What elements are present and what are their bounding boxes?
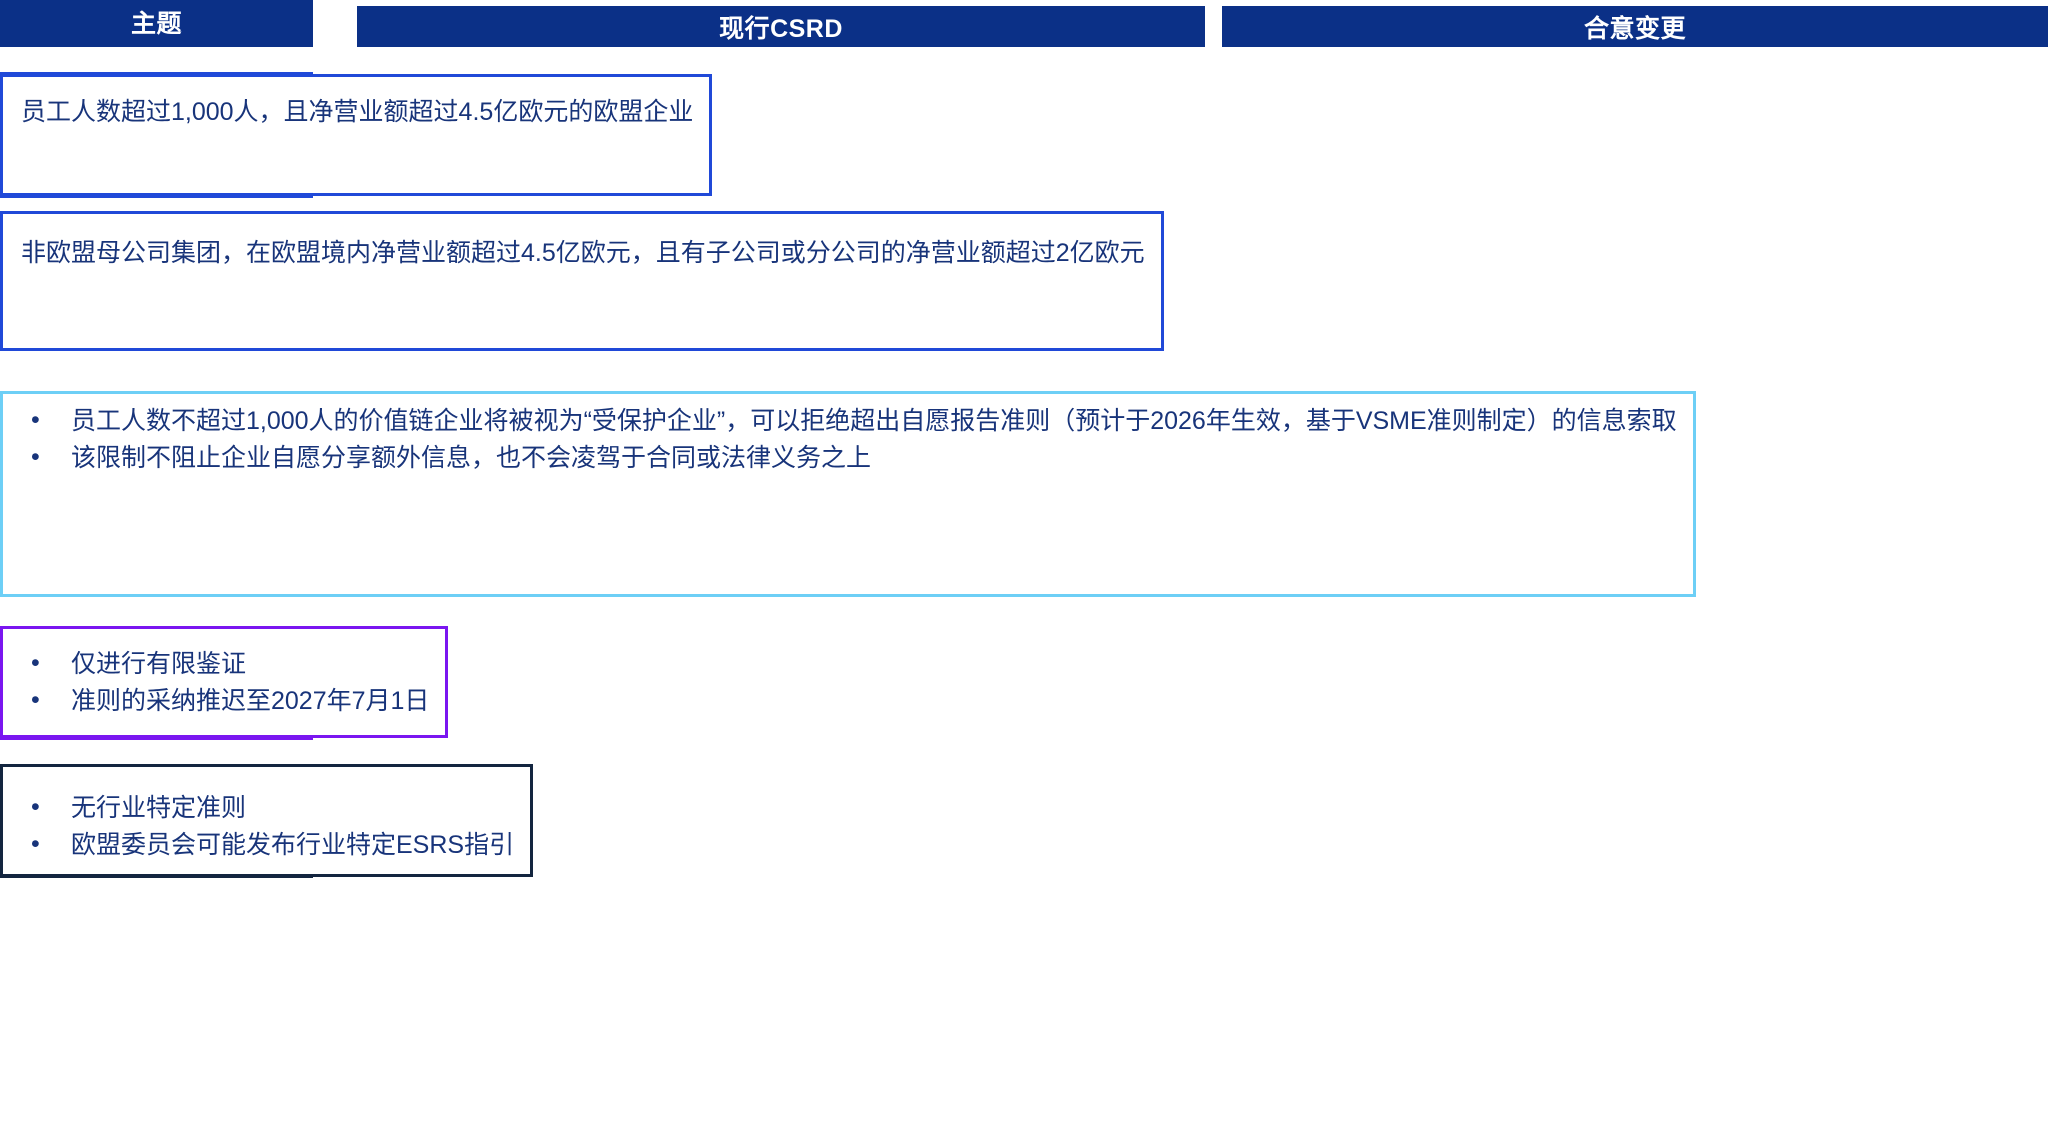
header-label-agreed-changes: 合意变更: [1584, 9, 1686, 45]
header-label-topic: 主题: [131, 8, 182, 40]
cell-change-assurance-standards: 仅进行有限鉴证 准则的采纳推迟至2027年7月1日: [0, 626, 448, 738]
bullet-list: 员工人数不超过1,000人的价值链企业将被视为“受保护企业”，可以拒绝超出自愿报…: [21, 404, 1677, 475]
header-label-current-csrd: 现行CSRD: [719, 9, 843, 45]
cell-paragraph: 员工人数超过1,000人，且净营业额超过4.5亿欧元的欧盟企业: [21, 95, 693, 130]
cell-change-eu-companies-scope: 员工人数超过1,000人，且净营业额超过4.5亿欧元的欧盟企业: [0, 74, 712, 196]
bullet-item: 员工人数不超过1,000人的价值链企业将被视为“受保护企业”，可以拒绝超出自愿报…: [21, 404, 1677, 439]
cell-change-sector-specific-standards: 无行业特定准则 欧盟委员会可能发布行业特定ESRS指引: [0, 764, 533, 877]
header-cell-current-csrd: 现行CSRD: [357, 6, 1205, 47]
bullet-list: 仅进行有限鉴证 准则的采纳推迟至2027年7月1日: [21, 647, 429, 718]
cell-change-small-companies: 员工人数不超过1,000人的价值链企业将被视为“受保护企业”，可以拒绝超出自愿报…: [0, 391, 1696, 597]
bullet-item: 该限制不阻止企业自愿分享额外信息，也不会凌驾于合同或法律义务之上: [21, 441, 1677, 476]
bullet-item: 准则的采纳推迟至2027年7月1日: [21, 684, 429, 719]
cell-paragraph: 非欧盟母公司集团，在欧盟境内净营业额超过4.5亿欧元，且有子公司或分公司的净营业…: [21, 236, 1145, 271]
bullet-list: 无行业特定准则 欧盟委员会可能发布行业特定ESRS指引: [21, 791, 514, 862]
cell-change-non-eu-parent-scope: 非欧盟母公司集团，在欧盟境内净营业额超过4.5亿欧元，且有子公司或分公司的净营业…: [0, 211, 1164, 351]
bullet-item: 无行业特定准则: [21, 791, 514, 826]
bullet-item: 欧盟委员会可能发布行业特定ESRS指引: [21, 828, 514, 863]
table-header-row: 主题 现行CSRD 合意变更: [0, 0, 2048, 47]
bullet-item: 仅进行有限鉴证: [21, 647, 429, 682]
header-cell-topic: 主题: [0, 0, 313, 47]
comparison-table: 主题 现行CSRD 合意变更 欧盟内企业 适用范围 所有大型企业和上市欧盟企业，…: [0, 0, 2048, 1137]
header-cell-agreed-changes: 合意变更: [1222, 6, 2048, 47]
